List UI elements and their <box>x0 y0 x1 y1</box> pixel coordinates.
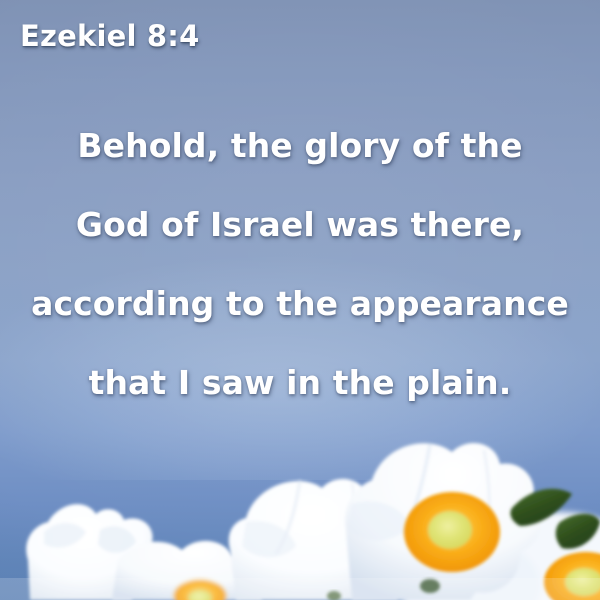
flower-stamen-right <box>404 492 500 572</box>
verse-body: Behold, the glory of the God of Israel w… <box>0 106 600 422</box>
verse-line-1: Behold, the glory of the <box>0 106 600 185</box>
verse-image-canvas: Ezekiel 8:4 Behold, the glory of the God… <box>0 0 600 600</box>
verse-reference: Ezekiel 8:4 <box>20 19 199 53</box>
verse-line-2: God of Israel was there, <box>0 185 600 264</box>
verse-line-3: according to the appearance <box>0 264 600 343</box>
flower-photo-region <box>0 410 600 600</box>
flower-right-main <box>345 443 541 600</box>
